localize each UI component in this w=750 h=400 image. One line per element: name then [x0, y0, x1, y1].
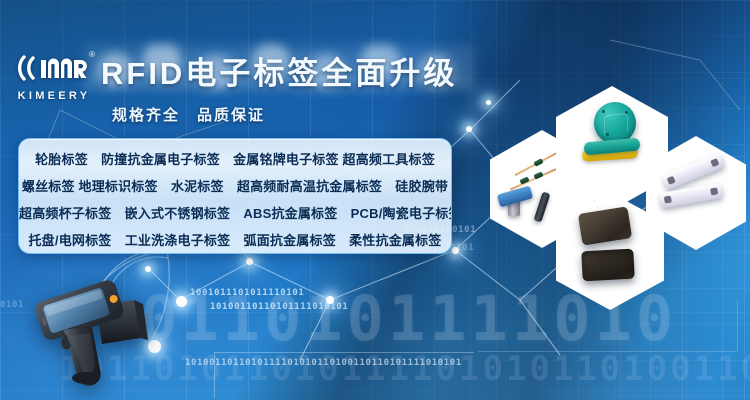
dark-stick-tag [534, 191, 551, 222]
network-node [176, 296, 187, 307]
tag-eyelet [710, 158, 719, 167]
tag-eyelet [667, 176, 676, 185]
glass-tube-tag-body [533, 171, 543, 179]
tag-eyelet [664, 196, 672, 204]
brand-name: KIMEERY [14, 90, 94, 102]
logo-mark-icon: ® [14, 52, 94, 86]
handheld-rfid-reader-icon [30, 278, 160, 390]
kmr-logo-icon [15, 52, 93, 84]
handheld-rfid-reader [30, 278, 150, 388]
network-node [466, 126, 472, 132]
network-node [326, 296, 334, 304]
headline-subtitle: 规格齐全 品质保证 [112, 104, 265, 125]
product-list-row: 超高频杯子标签 嵌入式不锈钢标签 ABS抗金属标签 PCB/陶瓷电子标签 [19, 200, 451, 227]
network-node [145, 266, 151, 272]
disc-hole [602, 110, 605, 113]
brand-logo: ® KIMEERY [14, 52, 94, 102]
disc-hole [606, 133, 609, 136]
dark-anti-metal-tag [581, 249, 634, 282]
product-list-panel: 轮胎标签 防撞抗金属电子标签 金属铭牌电子标签 超高频工具标签 螺丝标签 地理标… [18, 138, 452, 254]
product-list-row: 轮胎标签 防撞抗金属电子标签 金属铭牌电子标签 超高频工具标签 [19, 146, 451, 173]
registered-trademark-icon: ® [89, 51, 95, 59]
glass-tube-tag [510, 168, 558, 191]
product-list-row: 螺丝标签 地理标识标签 水泥标签 超高频耐高温抗金属标签 硅胶腕带 [19, 173, 451, 200]
dark-anti-metal-tag [578, 206, 632, 245]
glass-tube-tag-body [533, 158, 543, 167]
product-list-row: 托盘/电网标签 工业洗涤电子标签 弧面抗金属标签 柔性抗金属标签 [19, 227, 451, 254]
rfid-promo-banner: 0110101111010 10110101101011110101011010… [0, 0, 750, 400]
tag-eyelet [710, 187, 718, 195]
network-node [452, 247, 459, 254]
network-node [486, 100, 491, 105]
disc-hole [625, 111, 628, 114]
headline-title: RFID电子标签全面升级 [101, 48, 457, 93]
network-node [246, 258, 253, 265]
